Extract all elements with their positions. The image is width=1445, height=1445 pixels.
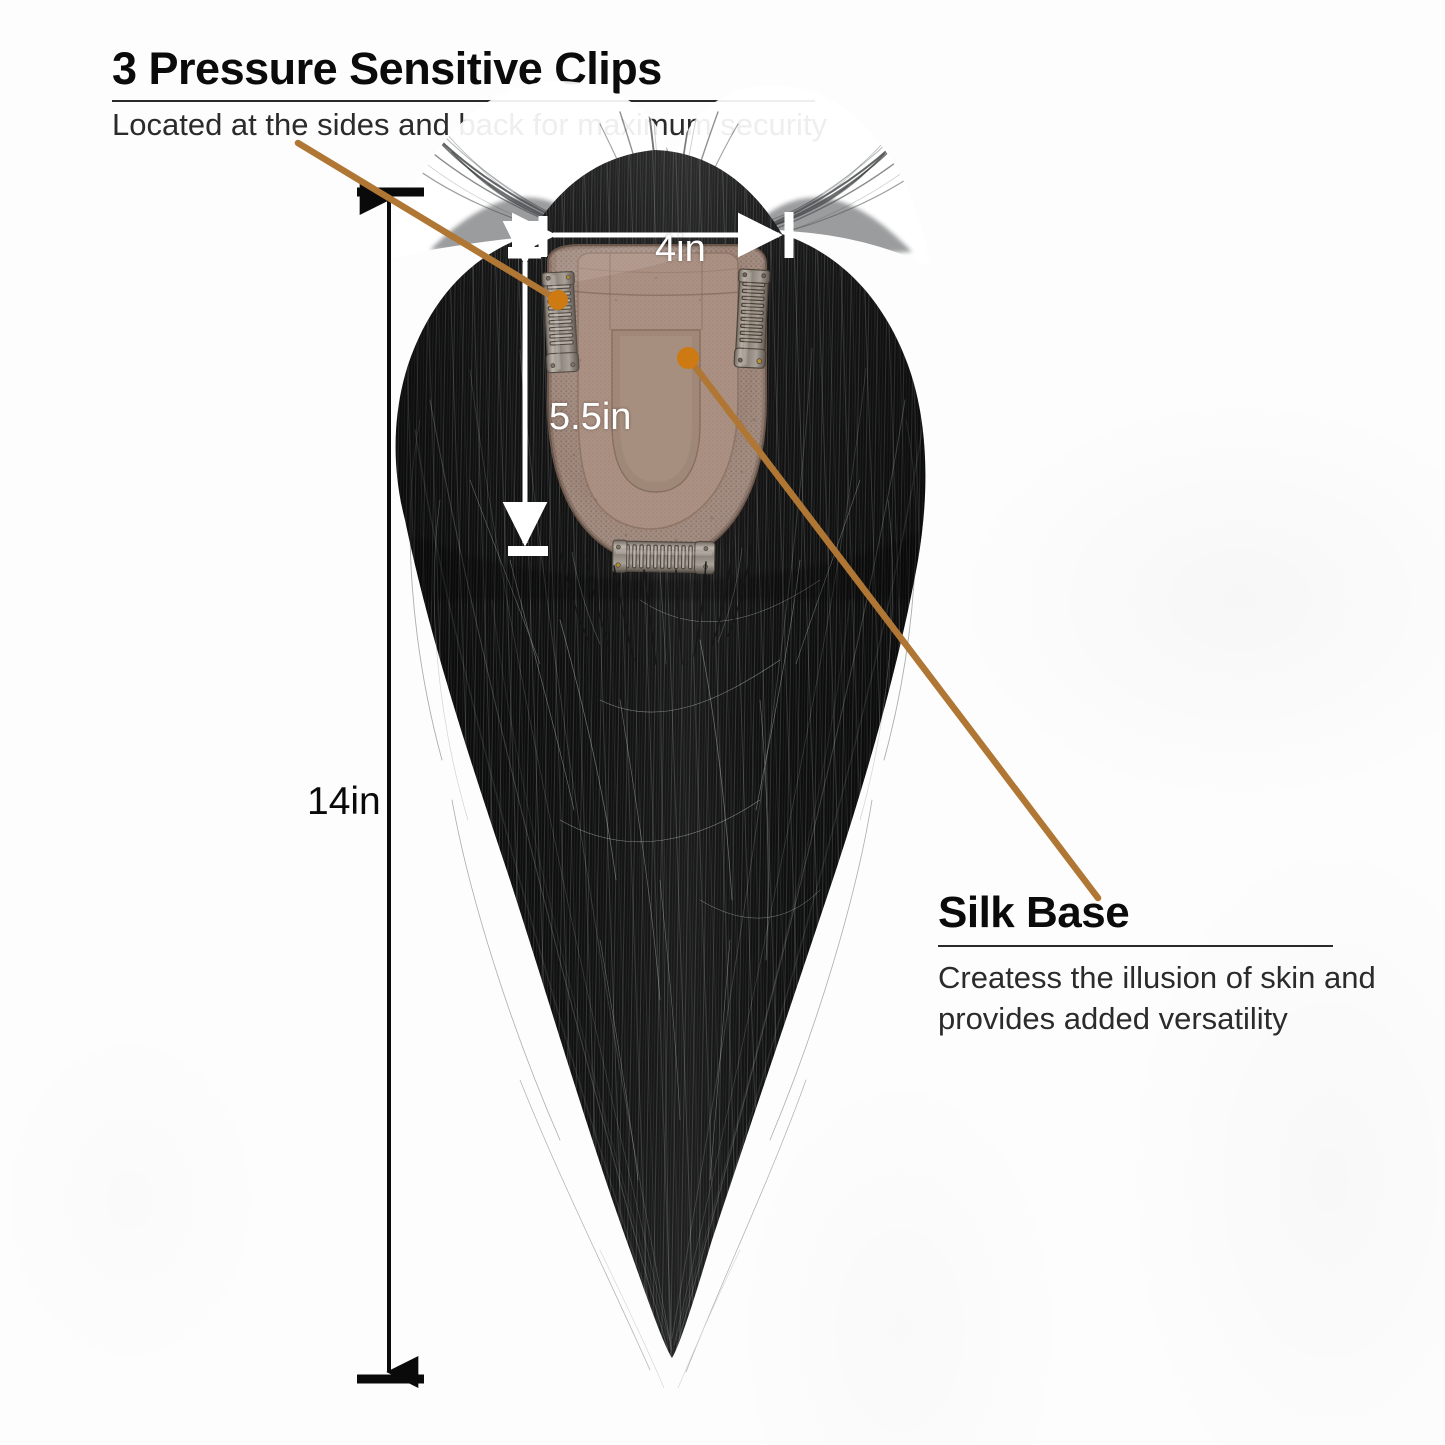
background-texture (0, 0, 1445, 1445)
dimension-label-5point5in: 5.5in (549, 396, 631, 439)
infographic-canvas: 4in 5.5in 14in 3 Pressure Sensitive Clip… (0, 0, 1445, 1445)
hair-stray-wisps (410, 420, 916, 1388)
clip-right (734, 269, 770, 368)
pointer-silk-base (677, 347, 1098, 898)
pointer-clips (298, 143, 568, 310)
dimension-4in (508, 212, 789, 258)
dimension-label-14in: 14in (307, 780, 381, 824)
dimension-label-4in: 4in (655, 228, 706, 271)
base-hair-fringe (560, 542, 752, 664)
callout-pressure-clips-description: Located at the sides and back for maximu… (112, 106, 827, 144)
clip-left (542, 271, 579, 373)
callout-pressure-clips-title: 3 Pressure Sensitive Clips (112, 44, 827, 94)
callout-pressure-clips-rule (112, 100, 815, 102)
callout-silk-base: Silk Base Createss the illusion of skin … (938, 888, 1398, 1039)
callout-silk-base-rule (938, 945, 1333, 947)
dimension-5point5in (508, 254, 548, 551)
clip-bottom (612, 540, 715, 574)
hair-topper-illustration (0, 0, 1445, 1445)
hair-mass (380, 140, 940, 1380)
callout-silk-base-title: Silk Base (938, 888, 1398, 938)
silk-base-assembly (0, 0, 1445, 1445)
callout-silk-base-description: Createss the illusion of skin and provid… (938, 957, 1398, 1039)
callout-pressure-clips: 3 Pressure Sensitive Clips Located at th… (112, 44, 827, 144)
annotation-overlay (0, 0, 1445, 1445)
